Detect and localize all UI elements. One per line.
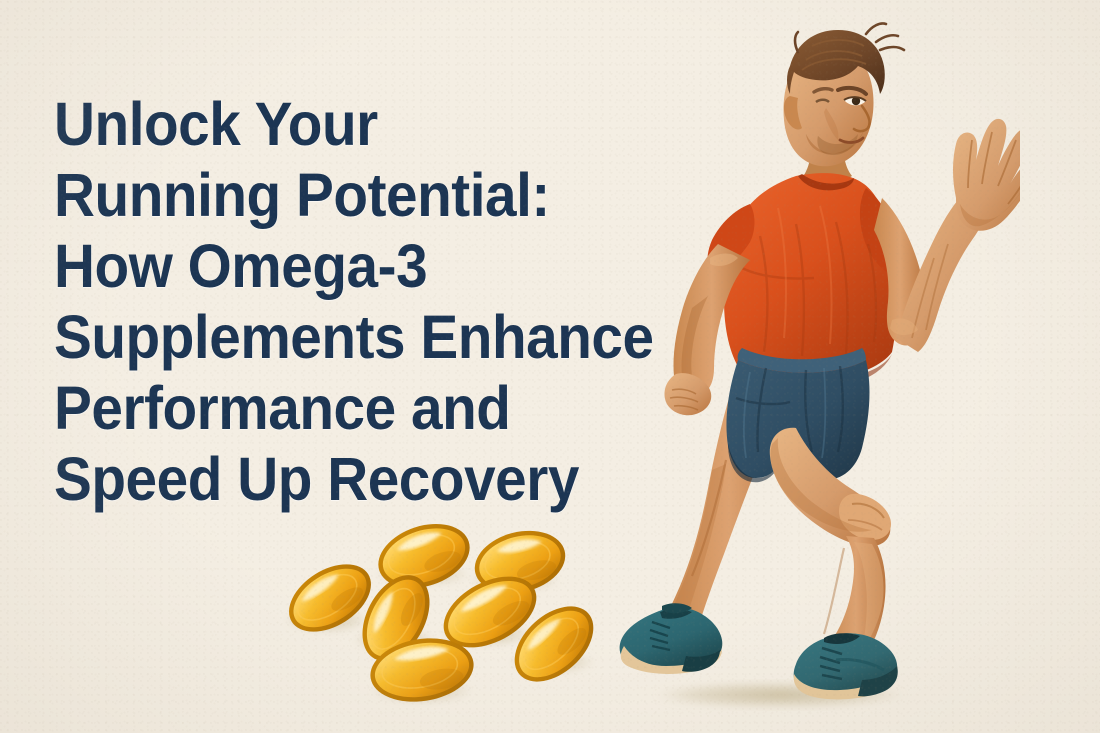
runner-front-arm — [874, 119, 1020, 352]
poster-canvas: Unlock Your Running Potential: How Omega… — [0, 0, 1100, 733]
runner-front-shoe — [794, 633, 898, 699]
omega3-capsules-illustration — [282, 512, 612, 712]
headline-line-6: Speed Up Recovery — [54, 444, 654, 515]
headline-line-2: Running Potential: — [54, 160, 654, 231]
runner-back-shoe — [620, 603, 723, 674]
poster-headline: Unlock Your Running Potential: How Omega… — [54, 89, 654, 515]
headline-line-4: Supplements Enhance — [54, 302, 654, 373]
headline-line-5: Performance and — [54, 373, 654, 444]
runner-illustration — [600, 8, 1020, 733]
headline-line-3: How Omega-3 — [54, 231, 654, 302]
headline-line-1: Unlock Your — [54, 89, 654, 160]
runner-head — [784, 23, 905, 166]
